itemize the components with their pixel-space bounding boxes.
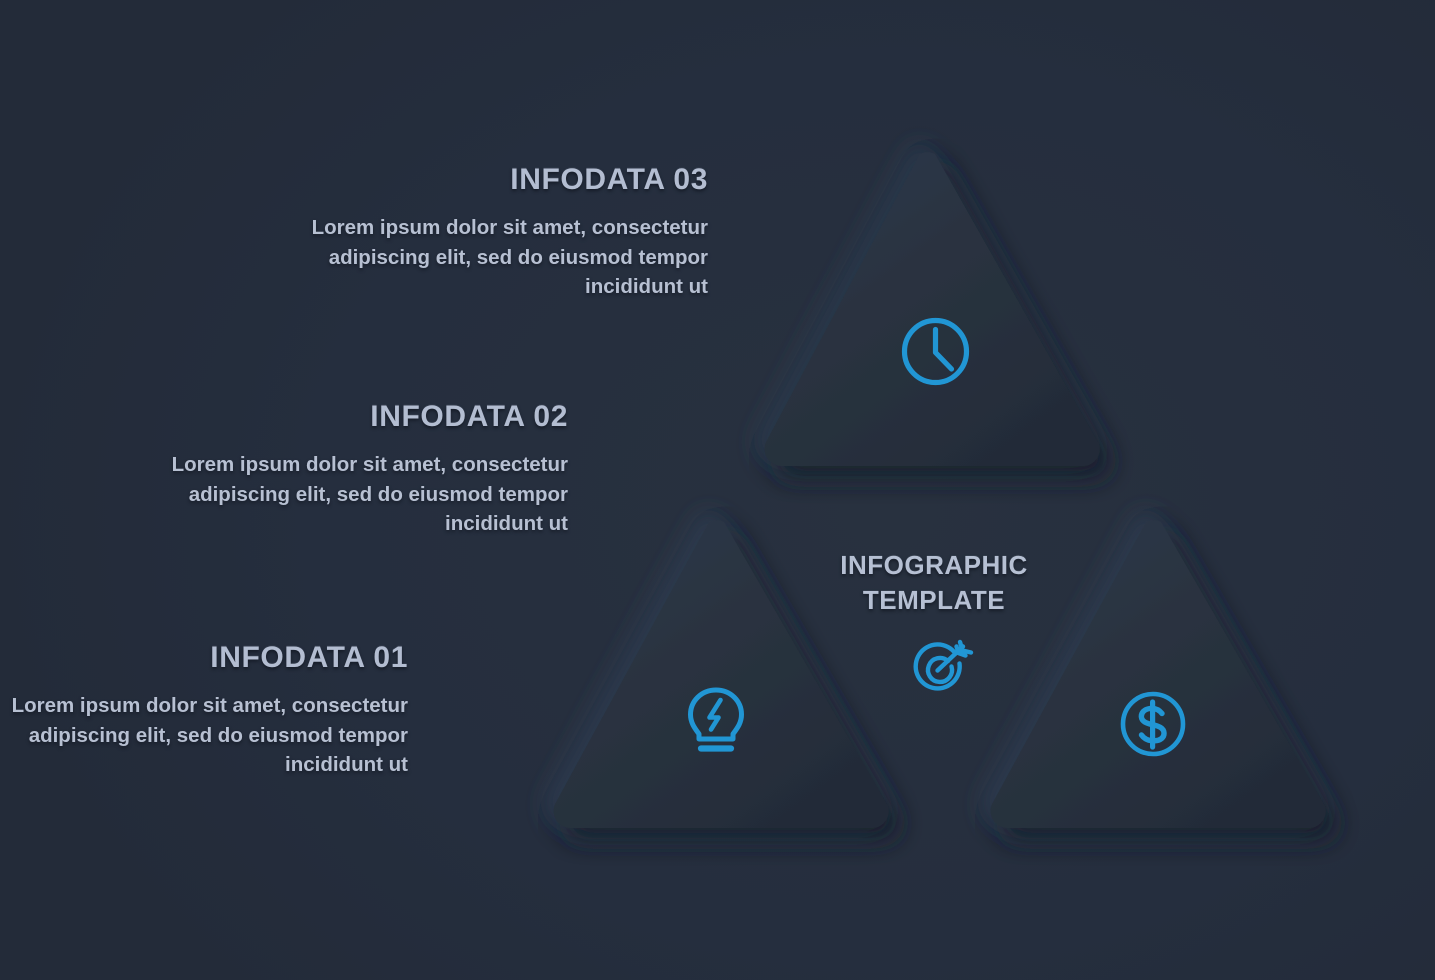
info-block-infodata-02: INFODATA 02 Lorem ipsum dolor sit amet, … [160, 400, 568, 539]
lightbulb-icon[interactable] [684, 684, 748, 756]
dollar-circle-icon[interactable] [1118, 689, 1188, 759]
infographic-canvas: INFOGRAPHIC TEMPLATE INFODATA 03 Lorem i… [0, 0, 1435, 980]
info-block-infodata-01: INFODATA 01 Lorem ipsum dolor sit amet, … [0, 641, 408, 780]
info-title-01: INFODATA 01 [0, 641, 408, 675]
target-icon[interactable] [905, 637, 977, 697]
info-body-02: Lorem ipsum dolor sit amet, consectetur … [160, 450, 568, 539]
clock-icon[interactable] [893, 309, 978, 394]
center-title-line1: INFOGRAPHIC [784, 548, 1084, 583]
info-block-infodata-03: INFODATA 03 Lorem ipsum dolor sit amet, … [300, 163, 708, 302]
center-title-line2: TEMPLATE [784, 583, 1084, 618]
center-title: INFOGRAPHIC TEMPLATE [784, 548, 1084, 618]
info-title-03: INFODATA 03 [300, 163, 708, 197]
info-body-01: Lorem ipsum dolor sit amet, consectetur … [0, 691, 408, 780]
info-body-03: Lorem ipsum dolor sit amet, consectetur … [300, 213, 708, 302]
info-title-02: INFODATA 02 [160, 400, 568, 434]
